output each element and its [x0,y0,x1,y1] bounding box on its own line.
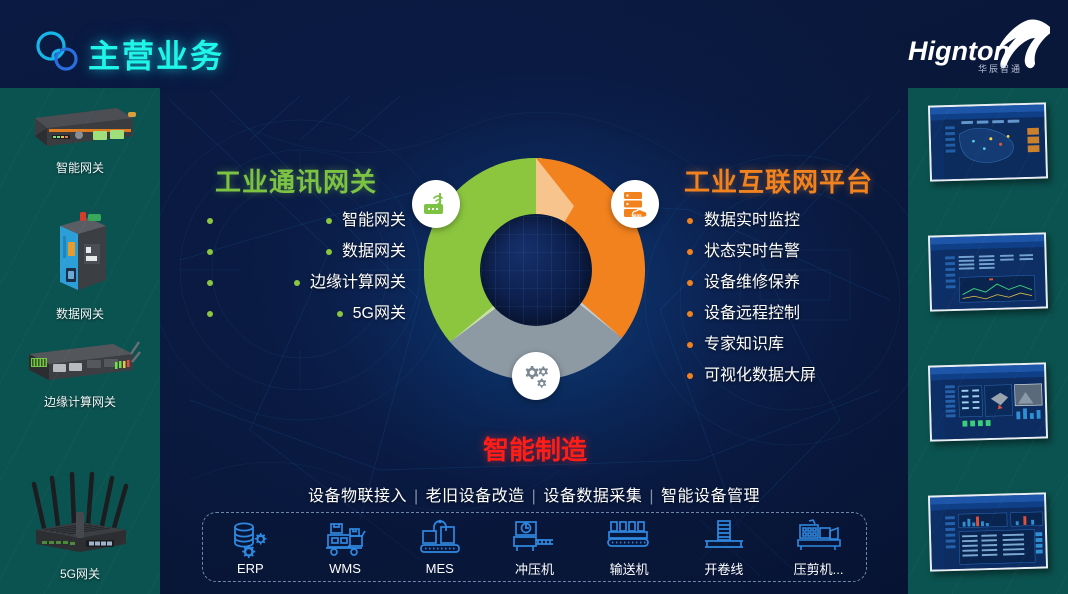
linked-circles-icon [30,27,84,77]
list-item: 状态实时告警 [684,236,914,267]
list-item: 设备远程控制 [684,298,914,329]
right-column-heading: 工业互联网平台 [684,162,873,199]
left-item-label: 边缘计算网关 [310,274,406,291]
right-rail-item-3[interactable] [908,494,1068,570]
production-line-icon [397,518,483,558]
smart-gateway-device-icon [21,102,139,150]
donut-diagram: saas [424,158,648,382]
brand-logo-icon: Hignton [900,16,1050,78]
list-item: 设备维修保养 [684,267,914,298]
left-column-heading: 工业通讯网关 [215,162,377,199]
left-rail-item-1[interactable]: 数据网关 [0,206,160,322]
tray-item-wms[interactable]: WMS [302,518,388,576]
left-rail-label-2: 边缘计算网关 [0,393,160,410]
list-item: 专家知识库 [684,329,914,360]
subtitle-item: 设备数据采集 [543,488,642,505]
subtitle-separator: | [532,488,537,505]
header-bar: 主营业务 Hignton 华辰智通 [0,0,1068,88]
left-item-label: 数据网关 [342,243,406,260]
donut-node-saas[interactable]: saas [611,180,659,228]
list-item: 智能网关 [225,205,410,236]
shearing-machine-icon [776,516,862,556]
tray-label: MES [397,561,483,576]
donut-node-manufacturing[interactable] [512,352,560,400]
tray-item-shearing[interactable]: 压剪机... [776,516,862,578]
database-gears-icon [207,518,293,558]
edge-computing-gateway-device-icon [19,340,141,384]
left-rail-label-0: 智能网关 [0,159,160,176]
tray-label: 冲压机 [491,559,577,578]
tray-label: 压剪机... [776,559,862,578]
list-item: 数据实时监控 [684,205,914,236]
tray-label: 输送机 [586,559,672,578]
donut-node-gateway[interactable] [412,180,460,228]
5g-gateway-router-device-icon [22,470,138,556]
gears-manufacturing-icon [521,361,551,391]
list-item: 边缘计算网关 [225,267,410,298]
saas-server-icon: saas [620,189,651,220]
donut-center-hub [481,215,591,325]
left-item-label: 智能网关 [342,212,406,229]
left-rail-item-0[interactable]: 智能网关 [0,102,160,176]
data-gateway-device-icon [44,206,116,296]
tray-label: ERP [207,561,293,576]
tray-item-uncoiling[interactable]: 开卷线 [681,516,767,578]
left-device-rail: 智能网关 数据网关 [0,88,160,594]
warehouse-cart-icon [302,518,388,558]
data-table-dashboard-screenshot [928,232,1048,311]
subtitle-item: 老旧设备改造 [426,488,525,505]
list-item: 可视化数据大屏 [684,360,914,391]
left-rail-item-2[interactable]: 边缘计算网关 [0,340,160,410]
right-rail-item-2[interactable] [908,364,1068,440]
center-subtitle-row: 设备物联接入|老旧设备改造|设备数据采集|智能设备管理 [176,482,892,506]
right-screenshot-rail [908,88,1068,594]
left-rail-label-3: 5G网关 [0,565,160,582]
tray-label: WMS [302,561,388,576]
equipment-monitor-dashboard-screenshot [928,362,1048,441]
tray-item-erp[interactable]: ERP [207,518,293,576]
slide-root: 主营业务 Hignton 华辰智通 [0,0,1068,594]
uncoiling-line-icon [681,516,767,556]
subtitle-separator: | [649,488,654,505]
center-title: 智能制造 [420,430,650,467]
subtitle-item: 设备物联接入 [308,488,407,505]
left-item-label: 5G网关 [353,305,406,322]
svg-text:saas: saas [631,212,642,217]
map-dashboard-screenshot [928,102,1048,181]
tray-item-conveyor[interactable]: 输送机 [586,516,672,578]
list-item: 数据网关 [225,236,410,267]
gateway-router-icon [421,189,451,219]
subtitle-separator: | [414,488,419,505]
stamping-machine-icon [491,516,577,556]
tray-item-stamping[interactable]: 冲压机 [491,516,577,578]
left-column-list: 智能网关 数据网关 边缘计算网关 5G网关 [225,205,410,329]
tray-item-mes[interactable]: MES [397,518,483,576]
report-list-dashboard-screenshot [928,492,1048,571]
brand-subtitle: 华辰智通 [978,62,1022,75]
left-rail-label-1: 数据网关 [0,305,160,322]
right-rail-item-1[interactable] [908,234,1068,310]
conveyor-belt-icon [586,516,672,556]
left-rail-item-3[interactable]: 5G网关 [0,470,160,582]
application-tray: ERP [202,512,867,582]
subtitle-item: 智能设备管理 [661,488,760,505]
list-item: 5G网关 [225,298,410,329]
right-column-list: 数据实时监控 状态实时告警 设备维修保养 设备远程控制 专家知识库 可视化数据大… [684,205,914,391]
page-title: 主营业务 [88,31,224,77]
right-rail-item-0[interactable] [908,104,1068,180]
tray-label: 开卷线 [681,559,767,578]
